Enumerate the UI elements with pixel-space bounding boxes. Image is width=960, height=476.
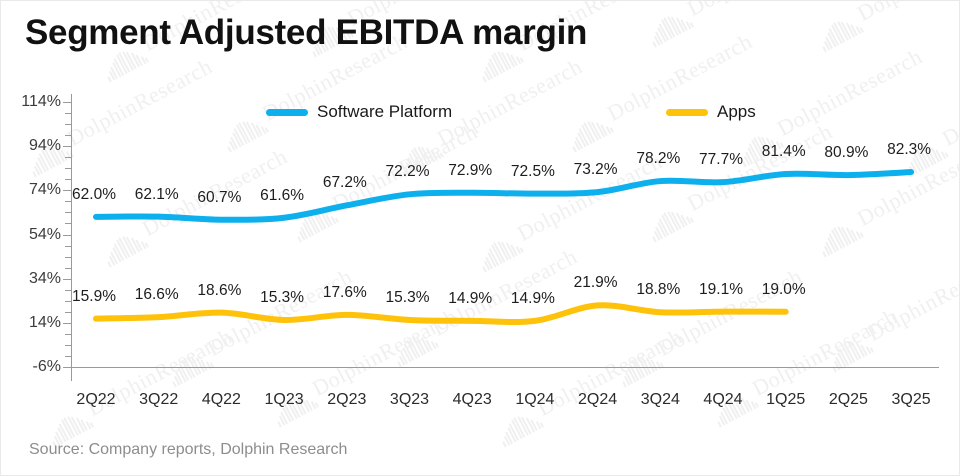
data-label: 18.8% xyxy=(636,281,680,299)
data-label: 78.2% xyxy=(636,150,680,168)
data-label: 16.6% xyxy=(135,286,179,304)
data-label: 15.3% xyxy=(386,289,430,307)
data-label: 14.9% xyxy=(511,290,555,308)
data-label: 72.5% xyxy=(511,163,555,181)
data-label: 17.6% xyxy=(323,284,367,302)
legend-label: Apps xyxy=(717,102,756,122)
legend-item-apps[interactable]: Apps xyxy=(666,102,756,122)
data-label: 21.9% xyxy=(574,274,618,292)
series-lines xyxy=(1,1,960,476)
data-label: 77.7% xyxy=(699,151,743,169)
plot-area: -6%14%34%54%74%94%114%2Q223Q224Q221Q232Q… xyxy=(1,1,960,476)
data-label: 60.7% xyxy=(197,189,241,207)
data-label: 15.9% xyxy=(72,288,116,306)
data-label: 15.3% xyxy=(260,289,304,307)
legend-color-swatch xyxy=(266,109,308,116)
legend-item-software-platform[interactable]: Software Platform xyxy=(266,102,452,122)
data-label: 82.3% xyxy=(887,141,931,159)
data-label: 61.6% xyxy=(260,187,304,205)
data-label: 62.0% xyxy=(72,186,116,204)
series-line-apps xyxy=(96,305,786,322)
legend-label: Software Platform xyxy=(317,102,452,122)
chart-legend: Software PlatformApps xyxy=(1,102,960,124)
chart-card: DolphinResearchDolphinResearchDolphinRes… xyxy=(0,0,960,476)
data-label: 19.0% xyxy=(762,281,806,299)
data-label: 73.2% xyxy=(574,161,618,179)
data-label: 67.2% xyxy=(323,174,367,192)
data-label: 19.1% xyxy=(699,281,743,299)
legend-color-swatch xyxy=(666,109,708,116)
data-label: 72.9% xyxy=(448,162,492,180)
data-label: 80.9% xyxy=(824,144,868,162)
data-label: 18.6% xyxy=(197,282,241,300)
chart-title: Segment Adjusted EBITDA margin xyxy=(25,13,587,53)
data-label: 62.1% xyxy=(135,186,179,204)
source-note: Source: Company reports, Dolphin Researc… xyxy=(29,441,347,459)
data-label: 14.9% xyxy=(448,290,492,308)
data-label: 81.4% xyxy=(762,143,806,161)
data-label: 72.2% xyxy=(386,163,430,181)
